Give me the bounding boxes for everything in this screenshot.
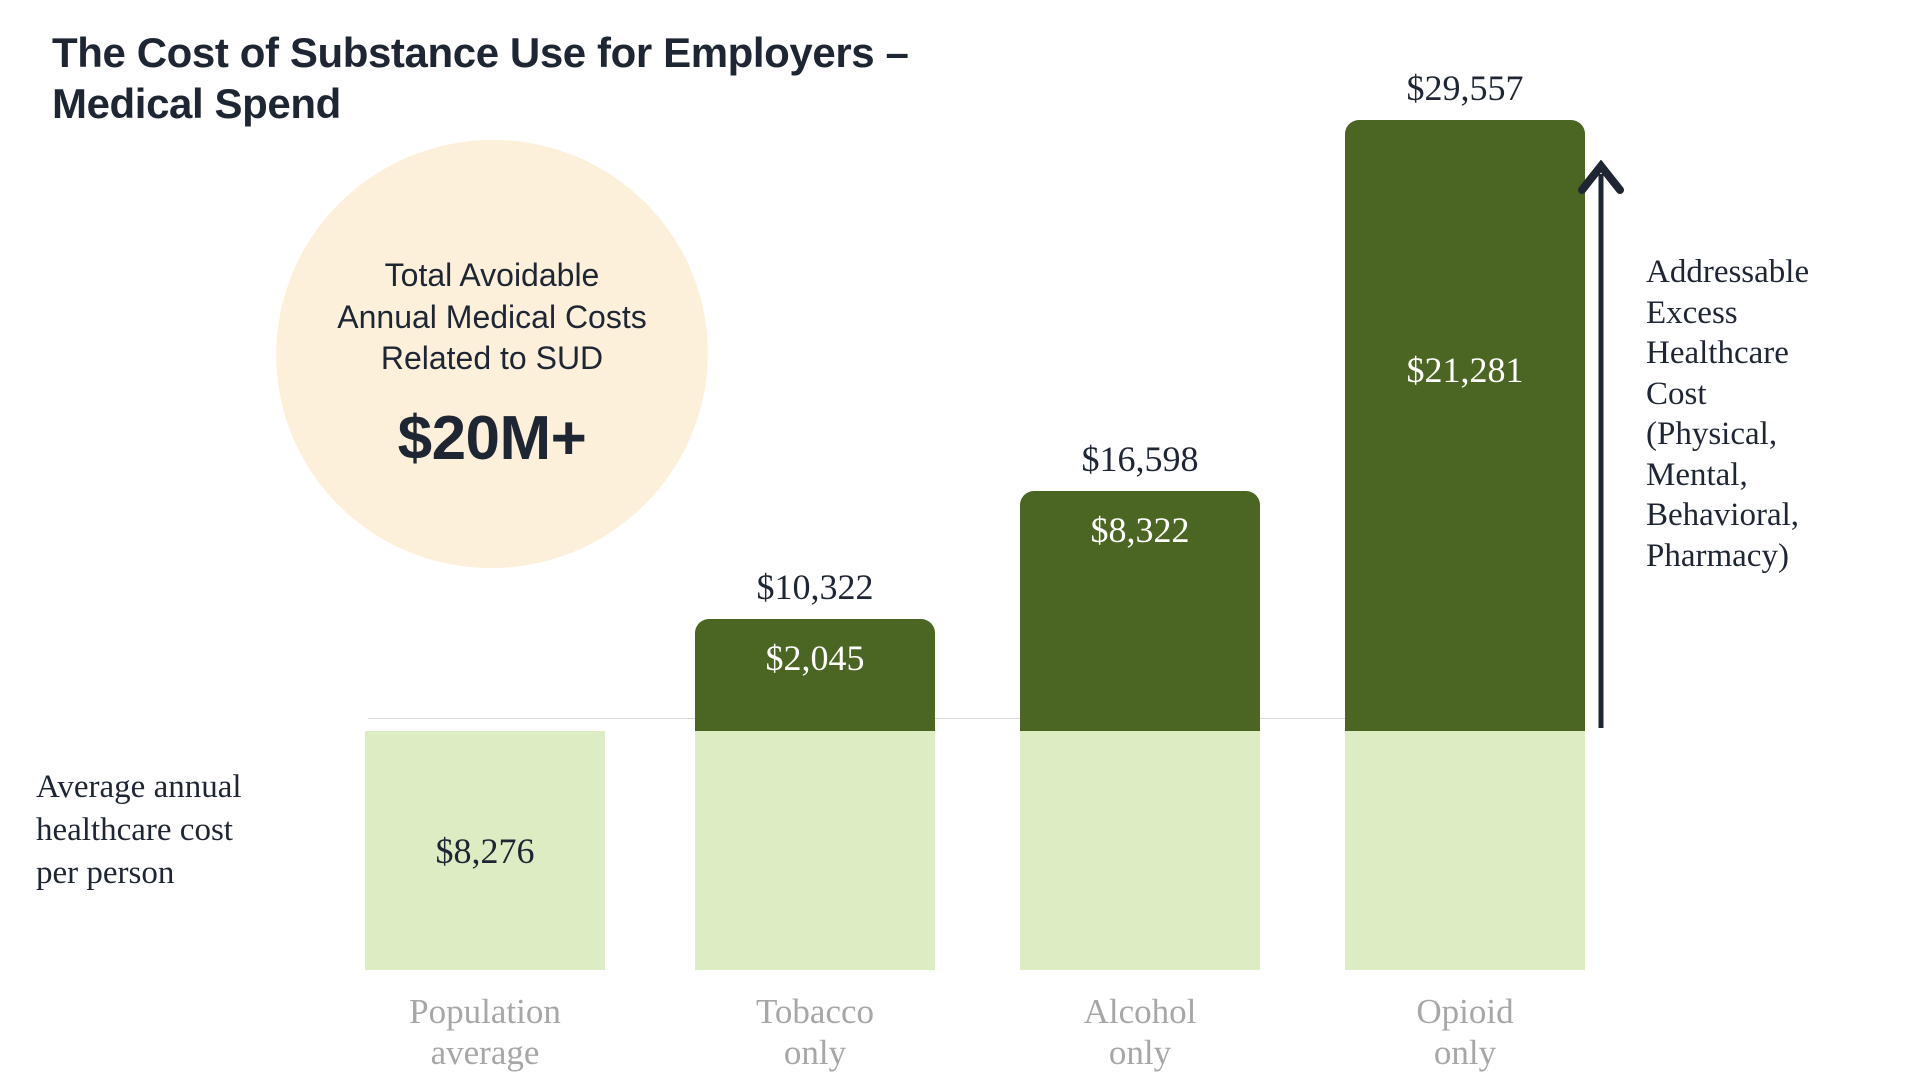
bar-excess-value: $21,281 bbox=[1407, 349, 1524, 391]
bar-base-segment[interactable] bbox=[1020, 731, 1260, 970]
bar-total-label: $16,598 bbox=[1020, 438, 1260, 480]
bar-base-value: $8,276 bbox=[436, 830, 535, 872]
bar-total-label: $10,322 bbox=[695, 566, 935, 608]
bar-base-segment[interactable] bbox=[1345, 731, 1585, 970]
bar-excess-value: $2,045 bbox=[766, 637, 865, 679]
bar-excess-segment[interactable]: $2,045 bbox=[695, 619, 935, 731]
up-arrow-icon bbox=[1578, 160, 1624, 730]
category-label-population-average: Population average bbox=[355, 992, 615, 1074]
chart-canvas: The Cost of Substance Use for Employers … bbox=[0, 0, 1920, 1079]
bar-excess-segment[interactable]: $8,322 bbox=[1020, 491, 1260, 731]
bar-base-segment[interactable]: $8,276 bbox=[365, 731, 605, 970]
category-label-opioid-only: Opioid only bbox=[1335, 992, 1595, 1074]
bar-base-segment[interactable] bbox=[695, 731, 935, 970]
plot-area: $8,276 Population average $10,322 $2,045… bbox=[0, 0, 1920, 1079]
bar-excess-segment[interactable]: $21,281 bbox=[1345, 120, 1585, 731]
category-label-alcohol-only: Alcohol only bbox=[1010, 992, 1270, 1074]
bar-total-label: $29,557 bbox=[1345, 67, 1585, 109]
excess-cost-note: Addressable Excess Healthcare Cost (Phys… bbox=[1646, 252, 1898, 577]
category-label-tobacco-only: Tobacco only bbox=[685, 992, 945, 1074]
bar-excess-value: $8,322 bbox=[1091, 509, 1190, 551]
